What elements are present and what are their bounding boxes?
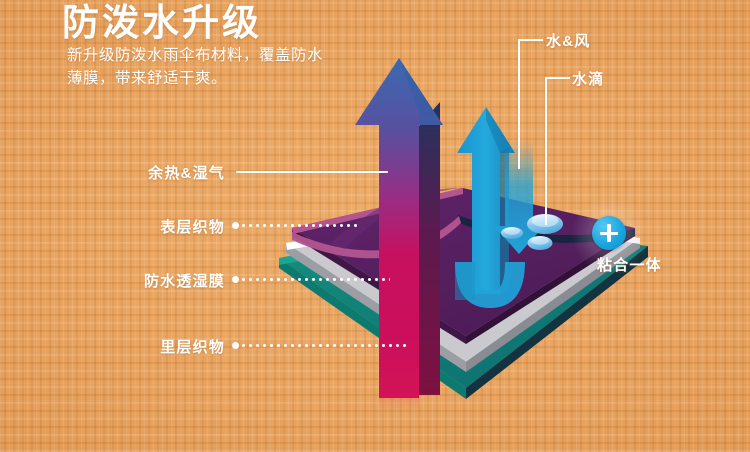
page-title: 防泼水升级 xyxy=(62,2,262,44)
page-subtitle: 新升级防泼水雨伞布材料，覆盖防水 薄膜，带来舒适干爽。 xyxy=(67,44,407,90)
plus-icon xyxy=(592,216,626,250)
label-heat-moisture: 余热&湿气 xyxy=(0,162,225,183)
subtitle-line-1: 新升级防泼水雨伞布材料，覆盖防水 xyxy=(67,44,407,67)
label-inner-fabric: 里层织物 xyxy=(0,336,225,357)
leader-elbow-stem-drop xyxy=(545,77,547,225)
leader-line-heat xyxy=(236,171,388,173)
subtitle-line-2: 薄膜，带来舒适干爽。 xyxy=(67,67,407,90)
label-bonded-layers: 粘合一体 xyxy=(597,254,662,275)
label-water-and-wind: 水&风 xyxy=(546,30,590,51)
leader-line-membrane xyxy=(240,278,390,281)
label-waterproof-membrane: 防水透湿膜 xyxy=(0,270,225,291)
leader-line-inner xyxy=(240,344,410,347)
leader-line-outer xyxy=(240,224,358,227)
leader-dot-inner xyxy=(232,342,239,349)
leader-elbow-stem-wind xyxy=(518,39,520,169)
leader-dot-membrane xyxy=(232,276,239,283)
label-outer-fabric: 表层织物 xyxy=(0,216,225,237)
leader-dot-outer xyxy=(232,222,239,229)
leader-elbow-top-drop xyxy=(546,77,570,79)
infographic-canvas: 防泼水升级 新升级防泼水雨伞布材料，覆盖防水 薄膜，带来舒适干爽。 余热&湿气 … xyxy=(0,0,750,452)
label-water-droplet: 水滴 xyxy=(572,68,604,89)
leader-elbow-top-wind xyxy=(519,39,543,41)
